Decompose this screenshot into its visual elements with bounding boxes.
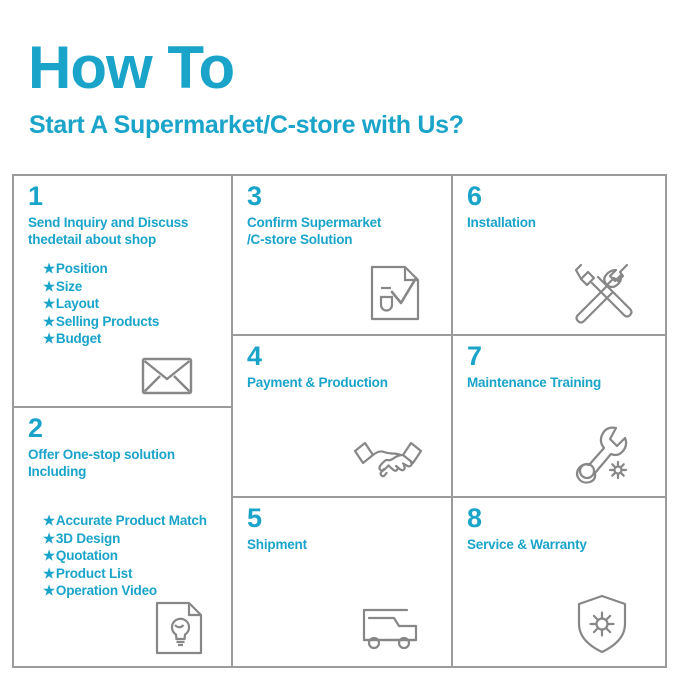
bullet-label: 3D Design [56, 531, 120, 546]
step-card-2: 2 Offer One-stop solution Including ★Acc… [12, 406, 233, 668]
step-heading-2: Offer One-stop solution Including [28, 447, 228, 480]
step-number-5: 5 [247, 504, 262, 532]
step-bullets-2: ★Accurate Product Match ★3D Design ★Quot… [43, 512, 207, 600]
star-icon: ★ [43, 314, 55, 329]
step-number-4: 4 [247, 342, 262, 370]
step-number-7: 7 [467, 342, 482, 370]
delivery-truck-icon [361, 606, 419, 652]
list-item: ★3D Design [43, 530, 207, 548]
bullet-label: Size [56, 279, 82, 294]
bullet-label: Selling Products [56, 314, 159, 329]
step-heading-5: Shipment [247, 537, 447, 554]
step-heading-7: Maintenance Training [467, 375, 667, 392]
step-heading-6: Installation [467, 215, 667, 232]
star-icon: ★ [43, 279, 55, 294]
step-number-3: 3 [247, 182, 262, 210]
step-bullets-1: ★Position ★Size ★Layout ★Selling Product… [43, 260, 159, 348]
list-item: ★Position [43, 260, 159, 278]
list-item: ★Selling Products [43, 313, 159, 331]
bullet-label: Accurate Product Match [56, 513, 207, 528]
screwdriver-wrench-icon [573, 262, 635, 324]
step-card-5: 5 Shipment [231, 496, 453, 668]
step-number-6: 6 [467, 182, 482, 210]
list-item: ★Operation Video [43, 582, 207, 600]
step-card-3: 3 Confirm Supermarket /C-store Solution [231, 174, 453, 336]
star-icon: ★ [43, 261, 55, 276]
step-card-8: 8 Service & Warranty [451, 496, 667, 668]
document-lightbulb-icon [154, 600, 204, 656]
list-item: ★Product List [43, 565, 207, 583]
wrench-gear-icon [571, 424, 633, 486]
step-card-1: 1 Send Inquiry and Discuss thedetail abo… [12, 174, 233, 408]
list-item: ★Layout [43, 295, 159, 313]
step-number-1: 1 [28, 182, 43, 210]
step-card-4: 4 Payment & Production [231, 334, 453, 498]
step-heading-1: Send Inquiry and Discuss thedetail about… [28, 215, 228, 248]
star-icon: ★ [43, 548, 55, 563]
star-icon: ★ [43, 513, 55, 528]
step-heading-3: Confirm Supermarket /C-store Solution [247, 215, 447, 248]
page-title: How To [28, 38, 234, 98]
list-item: ★Size [43, 278, 159, 296]
star-icon: ★ [43, 566, 55, 581]
bullet-label: Operation Video [56, 583, 157, 598]
list-item: ★Quotation [43, 547, 207, 565]
star-icon: ★ [43, 531, 55, 546]
list-item: ★Budget [43, 330, 159, 348]
bullet-label: Budget [56, 331, 101, 346]
page-subtitle: Start A Supermarket/C-store with Us? [29, 112, 464, 138]
shield-gear-icon [575, 594, 629, 654]
step-card-6: 6 Installation [451, 174, 667, 336]
star-icon: ★ [43, 331, 55, 346]
document-check-icon [369, 264, 421, 322]
step-number-2: 2 [28, 414, 43, 442]
list-item: ★Accurate Product Match [43, 512, 207, 530]
bullet-label: Quotation [56, 548, 118, 563]
star-icon: ★ [43, 583, 55, 598]
step-heading-4: Payment & Production [247, 375, 447, 392]
step-heading-8: Service & Warranty [467, 537, 667, 554]
step-number-8: 8 [467, 504, 482, 532]
bullet-label: Position [56, 261, 108, 276]
handshake-icon [353, 437, 423, 482]
bullet-label: Product List [56, 566, 132, 581]
envelope-icon [141, 356, 193, 396]
step-card-7: 7 Maintenance Training [451, 334, 667, 498]
bullet-label: Layout [56, 296, 99, 311]
steps-grid: 1 Send Inquiry and Discuss thedetail abo… [12, 174, 667, 668]
star-icon: ★ [43, 296, 55, 311]
page-header: How To Start A Supermarket/C-store with … [0, 0, 680, 166]
